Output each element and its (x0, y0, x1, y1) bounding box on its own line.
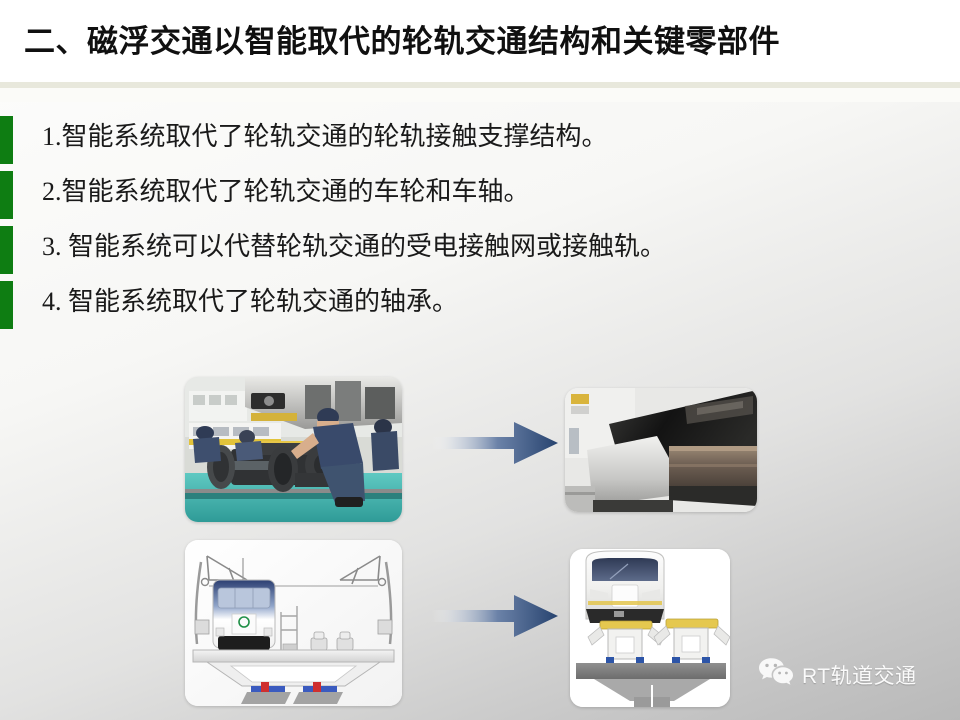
diagram-rail-viaduct-cross-section[interactable] (185, 540, 402, 706)
list-item: 1.智能系统取代了轮轨交通的轮轨接触支撑结构。 (0, 112, 960, 167)
title-band: 二、磁浮交通以智能取代的轮轨交通结构和关键零部件 (0, 0, 960, 82)
list-item-body: 智能系统可以代替轮轨交通的受电接触网或接触轨。 (62, 232, 667, 261)
right-arrow-icon (430, 415, 560, 471)
list-item-number: 1. (42, 122, 62, 151)
photo-bogie-maintenance[interactable] (185, 377, 402, 522)
slide: 二、磁浮交通以智能取代的轮轨交通结构和关键零部件 1.智能系统取代了轮轨交通的轮… (0, 0, 960, 720)
title-underline-band (0, 88, 960, 102)
diagram-rail-viaduct-graphic (185, 540, 402, 706)
page-title: 二、磁浮交通以智能取代的轮轨交通结构和关键零部件 (24, 16, 780, 61)
photo-bogie-maintenance-graphic (185, 377, 402, 522)
photo-maglev-guideway[interactable] (565, 388, 757, 512)
list-item-body: 智能系统取代了轮轨交通的轮轨接触支撑结构。 (62, 122, 608, 151)
photo-maglev-guideway-graphic (565, 388, 757, 512)
bullet-list: 1.智能系统取代了轮轨交通的轮轨接触支撑结构。 2.智能系统取代了轮轨交通的车轮… (0, 112, 960, 332)
list-item-number: 4. (42, 287, 62, 316)
watermark-label: RT轨道交通 (802, 660, 917, 690)
list-item-text: 3. 智能系统可以代替轮轨交通的受电接触网或接触轨。 (42, 222, 666, 277)
list-item-text: 2.智能系统取代了轮轨交通的车轮和车轴。 (42, 167, 530, 222)
right-arrow-glyph (430, 588, 560, 644)
wechat-icon (758, 657, 794, 692)
bullet-marker-square (0, 281, 13, 329)
media-area (0, 0, 960, 720)
list-item: 2.智能系统取代了轮轨交通的车轮和车轴。 (0, 167, 960, 222)
bullet-marker-square (0, 226, 13, 274)
diagram-maglev-viaduct-graphic (570, 549, 730, 707)
list-item-text: 4. 智能系统取代了轮轨交通的轴承。 (42, 277, 458, 332)
list-item-number: 3. (42, 232, 62, 261)
bullet-marker-square (0, 116, 13, 164)
right-arrow-glyph (430, 415, 560, 471)
diagram-maglev-viaduct-cross-section[interactable] (570, 549, 730, 707)
list-item: 3. 智能系统可以代替轮轨交通的受电接触网或接触轨。 (0, 222, 960, 277)
list-item-body: 智能系统取代了轮轨交通的轴承。 (62, 287, 459, 316)
bullet-marker-square (0, 171, 13, 219)
list-item-number: 2. (42, 177, 62, 206)
wechat-icon-glyph (758, 657, 794, 687)
list-item: 4. 智能系统取代了轮轨交通的轴承。 (0, 277, 960, 332)
wechat-watermark: RT轨道交通 (758, 657, 917, 692)
right-arrow-icon (430, 588, 560, 644)
list-item-body: 智能系统取代了轮轨交通的车轮和车轴。 (62, 177, 530, 206)
list-item-text: 1.智能系统取代了轮轨交通的轮轨接触支撑结构。 (42, 112, 608, 167)
